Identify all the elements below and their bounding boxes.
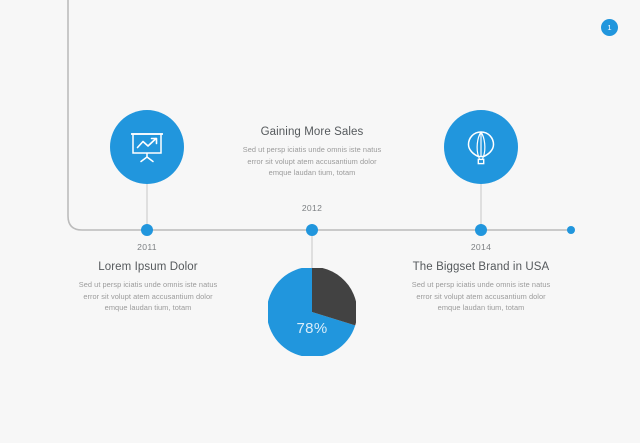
milestone-text-2014: The Biggset Brand in USA Sed ut persp ic…	[410, 261, 552, 314]
page-number-text: 1	[607, 23, 611, 32]
presentation-chart-icon	[127, 127, 167, 167]
year-label-2012: 2012	[282, 203, 342, 213]
milestone-body-2014: Sed ut persp iciatis unde omnis iste nat…	[410, 279, 552, 314]
timeline-node-2012	[306, 224, 318, 236]
year-label-2014: 2014	[451, 242, 511, 252]
milestone-icon-2011[interactable]	[110, 110, 184, 184]
page-number-badge: 1	[601, 19, 618, 36]
pie-chart-icon	[268, 268, 356, 356]
infographic-canvas: 1 78%	[0, 0, 640, 443]
milestone-title-2014: The Biggset Brand in USA	[410, 261, 552, 273]
milestone-title-2011: Lorem Ipsum Dolor	[77, 261, 219, 273]
milestone-body-2012: Sed ut persp iciatis unde omnis iste nat…	[241, 144, 383, 179]
milestone-body-2011: Sed ut persp iciatis unde omnis iste nat…	[77, 279, 219, 314]
timeline-end-node	[567, 226, 575, 234]
hot-air-balloon-icon	[461, 127, 501, 167]
timeline-node-2014	[475, 224, 487, 236]
milestone-text-2012: Gaining More Sales Sed ut persp iciatis …	[241, 126, 383, 179]
timeline-node-2011	[141, 224, 153, 236]
timeline-axis-graphic	[0, 0, 640, 443]
milestone-icon-2014[interactable]	[444, 110, 518, 184]
year-label-2011: 2011	[117, 242, 177, 252]
milestone-text-2011: Lorem Ipsum Dolor Sed ut persp iciatis u…	[77, 261, 219, 314]
pie-center-label: 78%	[268, 320, 356, 337]
milestone-title-2012: Gaining More Sales	[241, 126, 383, 138]
milestone-pie-chart-2012[interactable]: 78%	[268, 268, 356, 356]
